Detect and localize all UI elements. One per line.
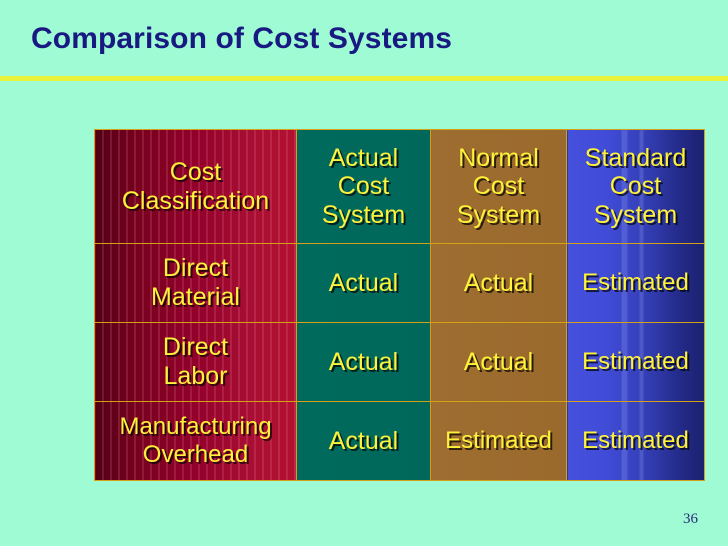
- row-label-line1: Direct: [95, 254, 296, 283]
- cell-direct-labor-actual-cost-system: Actual: [297, 323, 431, 402]
- header-normal-line3: System: [431, 201, 566, 230]
- row-label-direct-labor: Direct Labor: [95, 323, 297, 402]
- slide-canvas: Comparison of Cost Systems Cost Classifi…: [0, 0, 728, 546]
- cell-manufacturing-overhead-actual-cost-system: Actual: [297, 402, 431, 481]
- table-row: Direct Material Actual Actual Estimated: [95, 244, 705, 323]
- cell-direct-labor-normal-cost-system: Actual: [431, 323, 567, 402]
- slide-page-number: 36: [683, 511, 698, 528]
- cell-direct-material-standard-cost-system: Estimated: [567, 244, 705, 323]
- header-standard-line2: Cost: [567, 172, 704, 201]
- cell-value: Actual: [431, 269, 566, 298]
- table-row: Direct Labor Actual Actual Estimated: [95, 323, 705, 402]
- cost-systems-comparison-table: Cost Classification Actual Cost System N…: [94, 129, 705, 481]
- header-cell-standard-cost-system: Standard Cost System: [567, 130, 705, 244]
- header-cell-normal-cost-system: Normal Cost System: [431, 130, 567, 244]
- cell-value: Actual: [297, 348, 430, 377]
- cell-direct-material-normal-cost-system: Actual: [431, 244, 567, 323]
- cell-manufacturing-overhead-standard-cost-system: Estimated: [567, 402, 705, 481]
- cell-value: Actual: [297, 427, 430, 456]
- cell-manufacturing-overhead-normal-cost-system: Estimated: [431, 402, 567, 481]
- row-label-line1: Manufacturing: [95, 413, 296, 441]
- cell-direct-labor-standard-cost-system: Estimated: [567, 323, 705, 402]
- header-label-line1: Cost: [95, 158, 296, 187]
- cell-value: Estimated: [567, 348, 704, 375]
- row-label-line2: Labor: [95, 362, 296, 391]
- header-standard-line1: Standard: [567, 144, 704, 173]
- cell-value: Estimated: [431, 427, 566, 454]
- header-standard-line3: System: [567, 201, 704, 230]
- cell-value: Estimated: [567, 269, 704, 296]
- header-cell-actual-cost-system: Actual Cost System: [297, 130, 431, 244]
- cell-direct-material-actual-cost-system: Actual: [297, 244, 431, 323]
- row-label-direct-material: Direct Material: [95, 244, 297, 323]
- page-title: Comparison of Cost Systems: [31, 23, 452, 55]
- row-label-line1: Direct: [95, 333, 296, 362]
- cell-value: Actual: [297, 269, 430, 298]
- header-label-line2: Classification: [95, 187, 296, 216]
- header-normal-line2: Cost: [431, 172, 566, 201]
- cell-value: Estimated: [567, 427, 704, 454]
- table-row: Manufacturing Overhead Actual Estimated …: [95, 402, 705, 481]
- title-divider-rule: [0, 76, 728, 81]
- header-normal-line1: Normal: [431, 144, 566, 173]
- row-label-line2: Material: [95, 283, 296, 312]
- cell-value: Actual: [431, 348, 566, 377]
- header-actual-line2: Cost: [297, 172, 430, 201]
- header-cell-cost-classification: Cost Classification: [95, 130, 297, 244]
- table-header-row: Cost Classification Actual Cost System N…: [95, 130, 705, 244]
- header-actual-line1: Actual: [297, 144, 430, 173]
- header-actual-line3: System: [297, 201, 430, 230]
- row-label-manufacturing-overhead: Manufacturing Overhead: [95, 402, 297, 481]
- row-label-line2: Overhead: [95, 441, 296, 469]
